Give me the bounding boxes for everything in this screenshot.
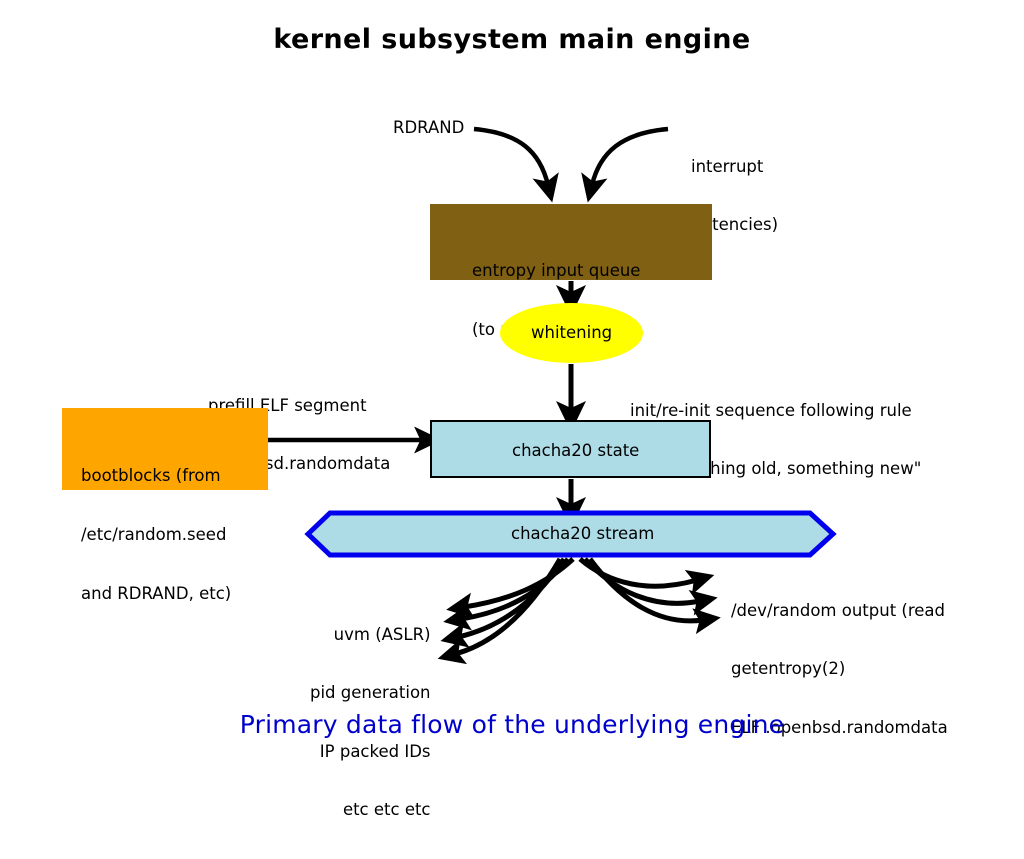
output-label-getentropy: getentropy(2): [731, 659, 948, 678]
entropy-input-queue-line1: entropy input queue: [472, 261, 640, 281]
output-label-ip-packed-ids: IP packed IDs: [310, 742, 431, 761]
bootblocks-label: bootblocks (from /etc/random.seed and RD…: [81, 426, 231, 644]
output-label-dev-random: /dev/random output (read: [731, 601, 948, 620]
chacha20-state-label: chacha20 state: [512, 441, 639, 461]
bootblocks-line2: /etc/random.seed: [81, 525, 231, 545]
arrow-interrupt-to-queue: [592, 129, 668, 185]
output-label-uvm-aslr: uvm (ASLR): [310, 625, 431, 644]
input-label-rdrand: RDRAND: [393, 118, 464, 137]
bootblocks-line3: and RDRAND, etc): [81, 584, 231, 604]
diagram-canvas: kernel subsystem main engine: [0, 0, 1024, 768]
whitening-label: whitening: [531, 323, 612, 343]
arrow-rdrand-to-queue: [474, 129, 548, 185]
bootblocks-line1: bootblocks (from: [81, 466, 231, 486]
input-label-interrupt-line1: interrupt: [691, 157, 778, 176]
output-label-pid-generation: pid generation: [310, 683, 431, 702]
arrow-stream-to-elf-randomdata: [590, 559, 703, 621]
diagram-caption: Primary data flow of the underlying engi…: [0, 710, 1024, 740]
note-init-reinit-line1: init/re-init sequence following rule: [630, 401, 921, 420]
output-label-etc: etc etc etc: [310, 800, 431, 819]
chacha20-stream-label: chacha20 stream: [511, 524, 654, 544]
output-labels-right: /dev/random output (read getentropy(2) E…: [731, 562, 948, 776]
